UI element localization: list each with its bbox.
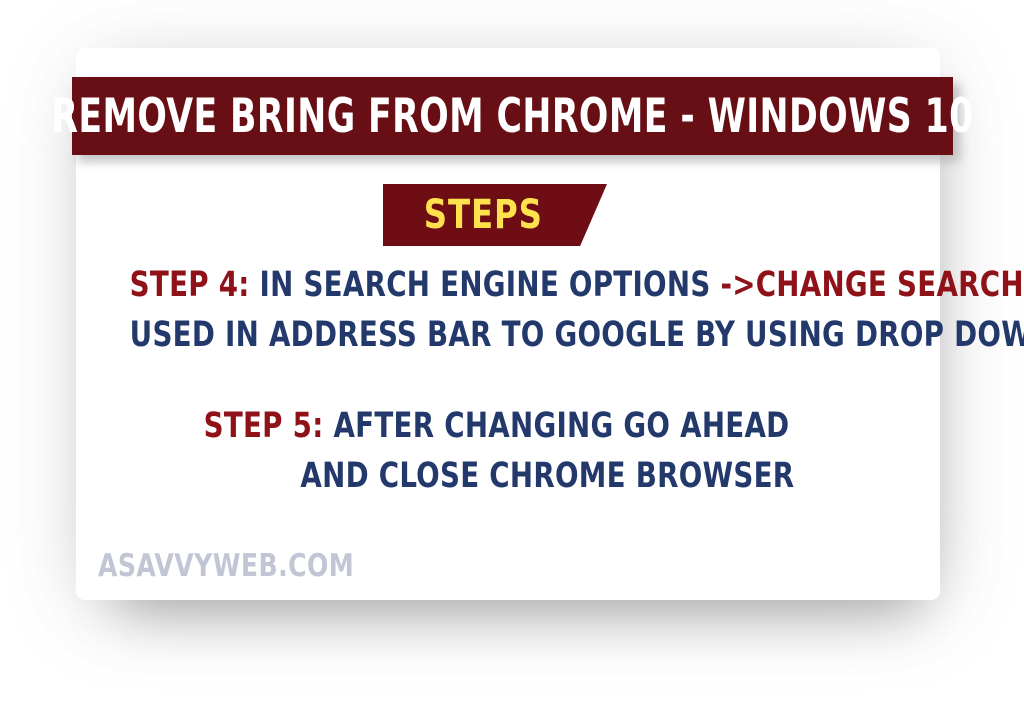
instruction-line-1: STEP 4: IN SEARCH ENGINE OPTIONS ->CHANG… [76,268,836,303]
step-5-text-main: AFTER CHANGING GO AHEAD [324,406,790,446]
instruction-line-3: STEP 5: AFTER CHANGING GO AHEAD [76,409,836,444]
step-4-text-cont: USED IN ADDRESS BAR TO GOOGLE BY USING D… [130,315,1024,355]
step-4-text-emph: ->CHANGE SEARCH ENGINE [720,265,1024,305]
step-5-label: STEP 5: [204,406,324,446]
page-title: REMOVE BRING FROM CHROME - WINDOWS 10 [51,93,973,140]
step-4-text-main: IN SEARCH ENGINE OPTIONS [250,265,721,305]
site-watermark: ASAVVYWEB.COM [98,548,354,584]
title-banner: REMOVE BRING FROM CHROME - WINDOWS 10 [72,77,953,155]
instruction-line-4: AND CLOSE CHROME BROWSER [76,459,836,494]
instructions-block: STEP 4: IN SEARCH ENGINE OPTIONS ->CHANG… [76,268,940,494]
steps-badge-label: STEPS [394,184,596,246]
steps-badge: STEPS [383,184,607,246]
step-4-label: STEP 4: [130,265,250,305]
infographic-page: { "page": { "background_color": "#ffffff… [0,0,1024,716]
instruction-line-2: USED IN ADDRESS BAR TO GOOGLE BY USING D… [76,318,836,353]
step-5-text-cont: AND CLOSE CHROME BROWSER [300,456,794,496]
